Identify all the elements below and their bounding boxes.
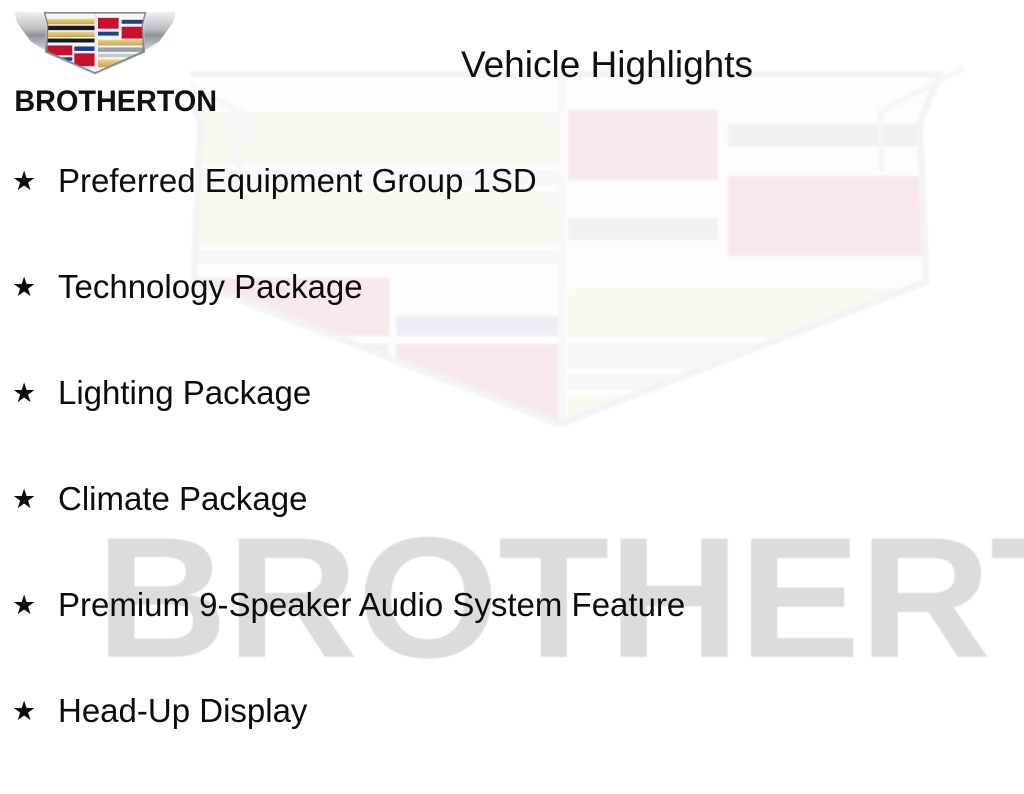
list-item: ★ Lighting Package [0,370,1024,476]
star-bullet-icon: ★ [12,370,36,416]
list-item: ★ Preferred Equipment Group 1SD [0,158,1024,264]
highlight-label: Premium 9-Speaker Audio System Feature [58,582,685,628]
star-bullet-icon: ★ [12,158,36,204]
highlight-label: Technology Package [58,264,363,310]
highlight-label: Lighting Package [58,370,311,416]
cadillac-crest-icon [10,6,180,80]
star-bullet-icon: ★ [12,264,36,310]
highlight-label: Preferred Equipment Group 1SD [58,158,537,204]
list-item: ★ Head-Up Display [0,688,1024,794]
star-bullet-icon: ★ [12,582,36,628]
dealer-name-text: BROTHERTON [14,85,175,119]
vehicle-highlights-list: ★ Preferred Equipment Group 1SD ★ Techno… [0,158,1024,794]
highlight-label: Climate Package [58,476,307,522]
list-item: ★ Climate Package [0,476,1024,582]
list-item: ★ Technology Package [0,264,1024,370]
star-bullet-icon: ★ [12,688,36,734]
slide-content: BROTHERTON Vehicle Highlights ★ Preferre… [0,0,1024,768]
star-bullet-icon: ★ [12,476,36,522]
list-item: ★ Premium 9-Speaker Audio System Feature [0,582,1024,688]
highlight-label: Head-Up Display [58,688,307,734]
dealer-logo: BROTHERTON [0,0,190,128]
